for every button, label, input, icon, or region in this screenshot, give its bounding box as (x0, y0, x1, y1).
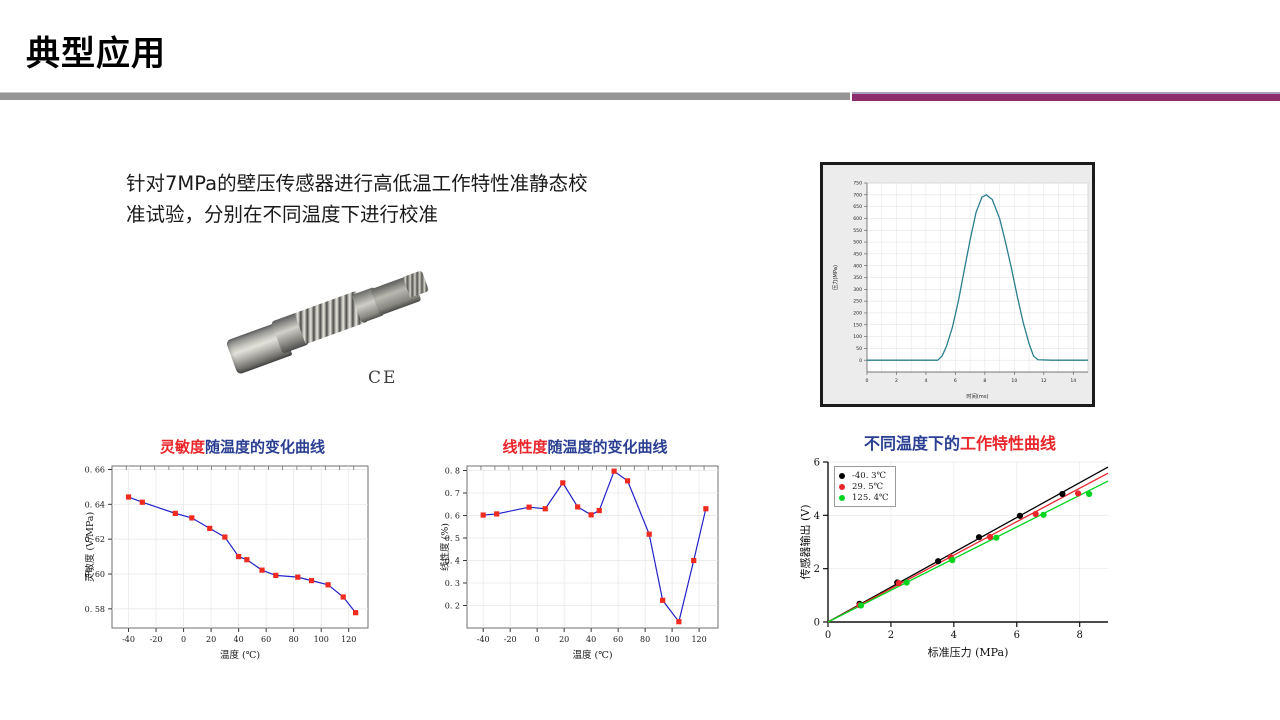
xtick-label: 14 (1070, 378, 1076, 384)
xtick-label: 80 (289, 635, 299, 644)
ytick-label: 0. 64 (85, 500, 105, 509)
xtick-label: 40 (234, 635, 244, 644)
ytick-label: 700 (853, 192, 862, 198)
data-point-marker (140, 500, 145, 505)
legend-item-2: 125. 4℃ (839, 492, 889, 503)
header-divider (0, 92, 1280, 102)
legend-label: 125. 4℃ (852, 493, 889, 503)
divider-accent-segment (852, 92, 1280, 101)
sensitivity-chart: 灵敏度随温度的变化曲线 0. 580. 600. 620. 640. 66-40… (85, 436, 400, 661)
ytick-label: 6 (814, 458, 820, 469)
data-point-marker (660, 598, 665, 603)
yaxis-title: 传感器输出 (V) (800, 504, 812, 579)
data-point-marker (611, 469, 616, 474)
data-point-marker (494, 511, 499, 516)
ytick-label: 0. 7 (445, 489, 460, 498)
ytick-label: 0. 6 (445, 512, 460, 521)
xtick-label: 2 (895, 378, 898, 384)
title-part-1: 线性度 (502, 438, 547, 456)
pressure-time-chart: 0501001502002503003504004505005506006507… (820, 162, 1095, 407)
xtick-label: 6 (954, 378, 957, 384)
ytick-label: 50 (856, 346, 862, 352)
data-point-marker (904, 579, 910, 585)
ytick-label: 400 (853, 263, 862, 269)
xtick-label: 10 (1011, 378, 1017, 384)
data-point-marker (259, 568, 264, 573)
ytick-label: 0 (859, 358, 862, 364)
data-point-marker (691, 558, 696, 563)
xaxis-title: 温度 (℃) (572, 649, 612, 661)
data-point-marker (341, 594, 346, 599)
title-part-2: 随温度的变化曲线 (548, 438, 668, 456)
data-point-marker (589, 512, 594, 517)
data-point-marker (1040, 512, 1046, 518)
data-point-marker (353, 610, 358, 615)
sensitivity-plot: 0. 580. 600. 620. 640. 66-40-20020406080… (85, 456, 400, 666)
xtick-label: 8 (983, 378, 986, 384)
xtick-label: 6 (1014, 630, 1020, 641)
data-point-marker (1075, 490, 1081, 496)
ytick-label: 600 (853, 216, 862, 222)
data-point-marker (481, 512, 486, 517)
yaxis-title: 灵敏度 (V/MPa) (85, 512, 96, 582)
xtick-label: -20 (150, 635, 163, 644)
data-point-marker (560, 480, 565, 485)
ytick-label: 750 (853, 181, 862, 187)
xtick-label: 0 (825, 630, 831, 641)
xaxis-title: 时间(ms) (966, 392, 988, 400)
data-point-marker (189, 515, 194, 520)
data-point-marker (935, 558, 941, 564)
ytick-label: 500 (853, 240, 862, 246)
ytick-label: 100 (853, 334, 862, 340)
xtick-label: 120 (341, 635, 356, 644)
data-point-marker (625, 478, 630, 483)
intro-paragraph: 针对7MPa的壁压传感器进行高低温工作特性准静态校准试验，分别在不同温度下进行校… (126, 168, 606, 230)
data-point-marker (647, 532, 652, 537)
xtick-label: 80 (640, 635, 650, 644)
xtick-label: 4 (924, 378, 927, 384)
xtick-label: 60 (261, 635, 271, 644)
page-title: 典型应用 (26, 26, 166, 75)
data-point-marker (236, 554, 241, 559)
data-point-marker (173, 511, 178, 516)
xtick-label: 0 (181, 635, 186, 644)
data-point-marker (1086, 491, 1092, 497)
xtick-label: 0 (866, 378, 869, 384)
legend-marker-dot (839, 473, 845, 479)
yaxis-title: 线性度 (%) (440, 523, 451, 571)
yaxis-title: 压力(MPa) (831, 265, 839, 290)
legend-label: 29. 5℃ (852, 482, 883, 492)
xtick-label: 20 (206, 635, 216, 644)
data-point-marker (543, 506, 548, 511)
sensor-photo: CE (200, 268, 430, 403)
data-point-marker (896, 580, 902, 586)
xtick-label: -20 (504, 635, 517, 644)
data-point-marker (976, 534, 982, 540)
divider-gray-segment (0, 92, 850, 100)
data-point-marker (295, 575, 300, 580)
data-point-marker (126, 494, 131, 499)
pressure-time-plot: 0501001502002503003504004505005506006507… (829, 171, 1092, 404)
ytick-label: 150 (853, 322, 862, 328)
xaxis-title: 标准压力 (MPa) (928, 645, 1009, 659)
data-point-marker (1017, 513, 1023, 519)
data-point-marker (1059, 491, 1065, 497)
ytick-label: 0 (814, 618, 820, 629)
linearity-plot: 0. 20. 30. 40. 50. 60. 70. 8-40-20020406… (440, 456, 730, 666)
xtick-label: 40 (586, 635, 596, 644)
ce-mark-label: CE (368, 368, 397, 388)
sensitivity-chart-title: 灵敏度随温度的变化曲线 (85, 436, 400, 457)
data-point-marker (993, 535, 999, 541)
output-pressure-chart: 不同温度下的工作特性曲线 024602468标准压力 (MPa)传感器输出 (V… (800, 430, 1120, 665)
linearity-chart-title: 线性度随温度的变化曲线 (440, 436, 730, 457)
ytick-label: 4 (814, 511, 820, 522)
ytick-label: 0. 66 (85, 465, 105, 474)
xtick-label: 100 (314, 635, 329, 644)
xtick-label: 12 (1041, 378, 1047, 384)
ytick-label: 0. 2 (445, 602, 460, 611)
title-part-1: 不同温度下的 (864, 434, 960, 453)
ytick-label: 2 (814, 564, 820, 575)
xtick-label: 100 (664, 635, 679, 644)
title-part-2: 随温度的变化曲线 (205, 438, 325, 456)
ytick-label: 350 (853, 275, 862, 281)
title-part-1: 灵敏度 (160, 438, 205, 456)
ytick-label: 300 (853, 287, 862, 293)
data-point-marker (1033, 511, 1039, 517)
ytick-label: 0. 58 (85, 605, 105, 614)
data-point-marker (575, 504, 580, 509)
title-part-2: 工作特性曲线 (960, 434, 1056, 453)
xtick-label: 20 (559, 635, 569, 644)
ytick-label: 200 (853, 311, 862, 317)
xtick-label: 60 (613, 635, 623, 644)
legend-item-0: -40. 3℃ (839, 470, 889, 481)
ytick-label: 550 (853, 228, 862, 234)
ytick-label: 650 (853, 204, 862, 210)
ytick-label: 450 (853, 251, 862, 257)
xtick-label: 8 (1076, 630, 1082, 641)
output-chart-legend: -40. 3℃29. 5℃125. 4℃ (834, 466, 896, 507)
data-point-marker (222, 534, 227, 539)
xtick-label: 0 (535, 635, 540, 644)
data-point-marker (526, 505, 531, 510)
data-point-marker (273, 573, 278, 578)
data-point-marker (676, 619, 681, 624)
legend-label: -40. 3℃ (852, 471, 886, 481)
data-point-marker (244, 557, 249, 562)
xtick-label: 4 (951, 630, 957, 641)
plot-frame (467, 466, 718, 628)
legend-marker-dot (839, 495, 845, 501)
legend-marker-dot (839, 484, 845, 490)
data-point-marker (858, 602, 864, 608)
xtick-label: 120 (691, 635, 706, 644)
xtick-label: 2 (888, 630, 894, 641)
plot-frame (112, 466, 368, 628)
output-chart-title: 不同温度下的工作特性曲线 (800, 430, 1120, 454)
data-point-marker (949, 557, 955, 563)
data-point-marker (309, 578, 314, 583)
ytick-label: 0. 3 (445, 579, 460, 588)
xtick-label: -40 (122, 635, 135, 644)
ytick-label: 250 (853, 299, 862, 305)
xtick-label: -40 (477, 635, 490, 644)
ytick-label: 0. 8 (445, 467, 460, 476)
data-point-marker (325, 582, 330, 587)
data-point-marker (703, 506, 708, 511)
data-point-marker (987, 534, 993, 540)
linearity-chart: 线性度随温度的变化曲线 0. 20. 30. 40. 50. 60. 70. 8… (440, 436, 730, 661)
data-point-marker (207, 526, 212, 531)
legend-item-1: 29. 5℃ (839, 481, 889, 492)
data-point-marker (597, 508, 602, 513)
xaxis-title: 温度 (℃) (220, 649, 260, 661)
